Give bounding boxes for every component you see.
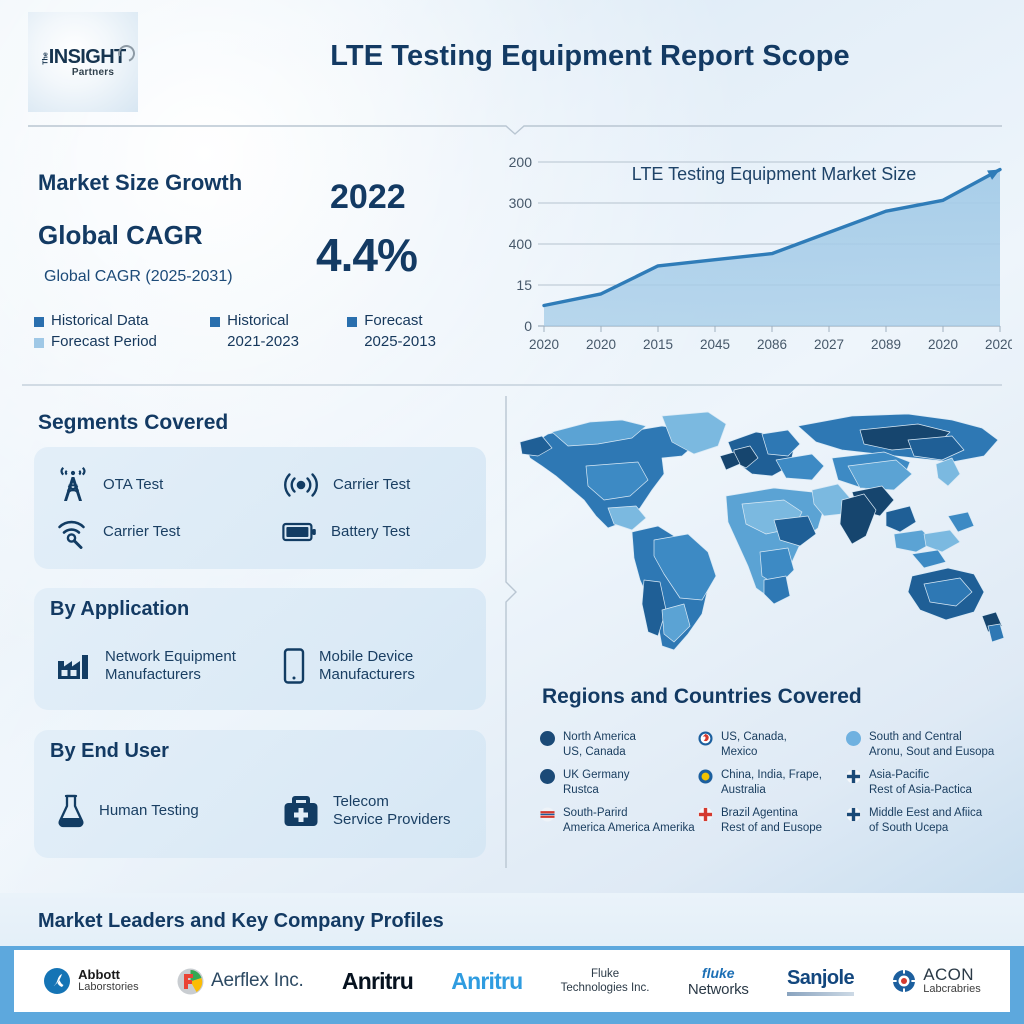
svg-text:2020: 2020 — [985, 337, 1012, 352]
application-label: Network Equipment Manufacturers — [105, 648, 236, 684]
company-name-line2: Technologies Inc. — [561, 982, 650, 994]
segments-heading: Segments Covered — [38, 411, 228, 435]
region-label-line1: North America — [563, 731, 636, 743]
company-name-line1: fluke — [688, 965, 749, 981]
smartphone-icon — [282, 648, 306, 684]
svg-text:2027: 2027 — [814, 337, 844, 352]
battery-icon — [282, 520, 318, 544]
market-size-chart: 2003004001502020202020152045208620272089… — [492, 148, 1012, 370]
blue-cross-icon — [846, 769, 861, 784]
company-name: Anritru — [451, 968, 522, 995]
flag-bars-icon — [540, 807, 555, 822]
region-label-line1: South-Parird — [563, 807, 628, 819]
company-name-line2: Networks — [688, 981, 749, 998]
company-anritru-dark[interactable]: Anritru — [342, 968, 413, 995]
legend-swatch-icon — [347, 317, 357, 327]
legend-item: Forecast Period — [34, 333, 210, 352]
region-label-line2: of South Ucepa — [869, 822, 948, 834]
enduser-item-human-testing[interactable]: Human Testing — [34, 787, 260, 835]
legend-label: Forecast — [364, 312, 422, 331]
company-name: Abbott — [78, 968, 139, 982]
company-abbott[interactable]: Abbott Laborstories — [43, 967, 139, 995]
company-acon[interactable]: ACON Labcrabries — [892, 966, 980, 995]
region-label-line2: US, Canada — [563, 746, 626, 758]
region-item[interactable]: US, Canada,Mexico — [698, 730, 846, 760]
legend-swatch-icon — [34, 317, 44, 327]
region-item[interactable]: Brazil AgentinaRest of and Eusope — [698, 806, 846, 836]
cell-tower-icon — [56, 467, 90, 503]
company-name-line1: Fluke — [591, 968, 619, 980]
legend-swatch-icon — [210, 317, 220, 327]
region-item[interactable]: Middle Eest and Afiicaof South Ucepa — [846, 806, 1020, 836]
medical-case-icon — [282, 794, 320, 828]
footer-heading: Market Leaders and Key Company Profiles — [38, 910, 444, 933]
region-item[interactable]: China, India, Frape,Australia — [698, 768, 846, 798]
company-fluke-technologies[interactable]: Fluke Technologies Inc. — [561, 967, 650, 995]
region-label: Brazil AgentinaRest of and Eusope — [721, 806, 822, 836]
svg-text:2015: 2015 — [643, 337, 673, 352]
global-cagr-subtext: Global CAGR (2025-2031) — [44, 268, 233, 286]
region-item[interactable]: UK GermanyRustca — [540, 768, 698, 798]
region-label-line1: Asia-Pacific — [869, 769, 929, 781]
company-sanjole[interactable]: Sanjole — [787, 967, 854, 996]
svg-text:0: 0 — [524, 318, 532, 334]
company-subtitle: Labcrabries — [923, 984, 980, 996]
world-map — [512, 404, 1020, 676]
region-label: US, Canada,Mexico — [721, 730, 787, 760]
logo-partners-text: Partners — [60, 68, 125, 78]
region-label: North AmericaUS, Canada — [563, 730, 636, 760]
svg-text:15: 15 — [516, 277, 532, 293]
segment-item-carrier-test-waves[interactable]: Carrier Test — [260, 461, 486, 509]
region-label-line1: China, India, Frape, — [721, 769, 822, 781]
svg-text:2020: 2020 — [586, 337, 616, 352]
application-label-line2: Manufacturers — [105, 666, 201, 683]
legend-sublabel: 2025-2013 — [347, 333, 494, 352]
region-label: South and CentralAronu, Sout and Eusopa — [869, 730, 994, 760]
region-label: UK GermanyRustca — [563, 768, 629, 798]
flask-icon — [56, 793, 86, 829]
flag-swirl-icon — [698, 731, 713, 746]
svg-text:300: 300 — [509, 195, 533, 211]
company-name: Anritru — [342, 968, 413, 995]
application-label-line1: Mobile Device — [319, 648, 413, 665]
red-cross-icon — [698, 807, 713, 822]
application-label: Mobile Device Manufacturers — [319, 648, 415, 684]
cagr-percent-value: 4.4% — [316, 228, 417, 282]
logo-insight-text: INSIGHT — [49, 47, 126, 67]
region-label-line2: America America Amerika — [563, 822, 695, 834]
navy-dot-icon — [540, 731, 555, 746]
company-name: Sanjole — [787, 967, 854, 990]
world-map-svg — [512, 404, 1020, 676]
aerflex-logo-icon — [177, 968, 204, 995]
legend-item: Historical — [210, 312, 347, 331]
divider-middle — [22, 381, 1002, 393]
blue-cross-icon — [846, 807, 861, 822]
legend-item: Historical Data — [34, 312, 210, 331]
acon-logo-icon — [892, 969, 916, 993]
abbott-logo-icon — [43, 967, 71, 995]
legend-label: Forecast Period — [51, 333, 157, 352]
logo-the-text: The — [43, 52, 50, 64]
region-label: Asia-PacificRest of Asia-Pactica — [869, 768, 972, 798]
region-label-line1: South and Central — [869, 731, 962, 743]
legend-item: Forecast — [347, 312, 494, 331]
company-logo-strip: Abbott Laborstories Aerflex Inc. Anritru… — [14, 950, 1010, 1012]
enduser-label: Human Testing — [99, 802, 199, 820]
enduser-label-line1: Telecom — [333, 793, 389, 810]
legend-swatch-icon — [34, 338, 44, 348]
region-item[interactable]: South-ParirdAmerica America Amerika — [540, 806, 698, 836]
infographic-page: The INSIGHT Partners LTE Testing Equipme… — [0, 0, 1024, 1024]
region-label: China, India, Frape,Australia — [721, 768, 822, 798]
region-label-line1: US, Canada, — [721, 731, 787, 743]
region-label-line2: Rustca — [563, 784, 599, 796]
regions-list: North AmericaUS, CanadaUS, Canada,Mexico… — [540, 730, 1020, 836]
market-legend: Historical Data Forecast Period Historic… — [34, 312, 494, 352]
segment-item-ota-test[interactable]: OTA Test — [34, 461, 260, 509]
legend-label: Historical — [227, 312, 289, 331]
company-name: Aerflex Inc. — [211, 970, 304, 992]
segments-card: OTA Test Carrier Test — [34, 447, 486, 569]
region-label-line2: Australia — [721, 784, 766, 796]
application-item-mobile-device[interactable]: Mobile Device Manufacturers — [260, 642, 486, 690]
page-title: LTE Testing Equipment Report Scope — [180, 40, 1000, 73]
company-name-underline — [787, 992, 854, 996]
region-label-line1: Brazil Agentina — [721, 807, 798, 819]
region-label: Middle Eest and Afiicaof South Ucepa — [869, 806, 982, 836]
base-year-value: 2022 — [330, 178, 406, 217]
company-logo: The INSIGHT Partners — [28, 12, 138, 112]
light-blue-dot-icon — [846, 731, 861, 746]
segment-item-carrier-test-search[interactable]: Carrier Test — [34, 509, 260, 555]
region-item[interactable]: South and CentralAronu, Sout and Eusopa — [846, 730, 1020, 760]
enduser-label: Telecom Service Providers — [333, 793, 451, 829]
global-cagr-heading: Global CAGR — [38, 220, 203, 251]
region-label-line2: Rest of Asia-Pactica — [869, 784, 972, 796]
svg-text:2020: 2020 — [529, 337, 559, 352]
company-name: ACON — [923, 966, 980, 984]
application-label-line1: Network Equipment — [105, 648, 236, 665]
application-item-network-equipment[interactable]: Network Equipment Manufacturers — [34, 642, 260, 690]
enduser-item-telecom-providers[interactable]: Telecom Service Providers — [260, 787, 486, 835]
svg-text:2020: 2020 — [928, 337, 958, 352]
svg-text:2089: 2089 — [871, 337, 901, 352]
company-fluke-networks[interactable]: fluke Networks — [688, 965, 749, 998]
divider-top — [28, 124, 1002, 136]
svg-text:2086: 2086 — [757, 337, 787, 352]
segment-item-battery-test[interactable]: Battery Test — [260, 509, 486, 555]
legend-sublabel: 2021-2023 — [210, 333, 347, 352]
segment-label: OTA Test — [103, 476, 163, 494]
company-anritru-blue[interactable]: Anritru — [451, 968, 522, 995]
navy-dot-icon — [540, 769, 555, 784]
region-label: South-ParirdAmerica America Amerika — [563, 806, 695, 836]
company-name: Fluke Technologies Inc. — [561, 967, 650, 995]
svg-text:200: 200 — [509, 154, 533, 170]
company-subtitle: Laborstories — [78, 982, 139, 994]
signal-waves-icon — [282, 471, 320, 499]
company-aerflex[interactable]: Aerflex Inc. — [177, 968, 304, 995]
application-label-line2: Manufacturers — [319, 666, 415, 683]
region-item[interactable]: North AmericaUS, Canada — [540, 730, 698, 760]
flag-dot-icon — [698, 769, 713, 784]
legend-label: Historical Data — [51, 312, 149, 331]
regions-heading: Regions and Countries Covered — [542, 685, 862, 709]
application-card: By Application Network Equipment Manufac… — [34, 588, 486, 710]
segment-label: Carrier Test — [333, 476, 410, 494]
header: The INSIGHT Partners LTE Testing Equipme… — [0, 0, 1024, 122]
svg-text:2045: 2045 — [700, 337, 730, 352]
region-label-line1: Middle Eest and Afiica — [869, 807, 982, 819]
market-size-heading: Market Size Growth — [38, 170, 242, 196]
factory-icon — [56, 651, 92, 681]
enduser-label-line2: Service Providers — [333, 811, 451, 828]
enduser-card: By End User Human Testing Telecom — [34, 730, 486, 858]
svg-text:400: 400 — [509, 236, 533, 252]
region-label-line2: Mexico — [721, 746, 757, 758]
segment-label: Battery Test — [331, 523, 410, 541]
segment-label: Carrier Test — [103, 523, 180, 541]
region-label-line1: UK Germany — [563, 769, 629, 781]
chart-svg: 2003004001502020202020152045208620272089… — [492, 148, 1012, 370]
region-label-line2: Rest of and Eusope — [721, 822, 822, 834]
wifi-search-icon — [56, 515, 90, 549]
region-item[interactable]: Asia-PacificRest of Asia-Pactica — [846, 768, 1020, 798]
region-label-line2: Aronu, Sout and Eusopa — [869, 746, 994, 758]
